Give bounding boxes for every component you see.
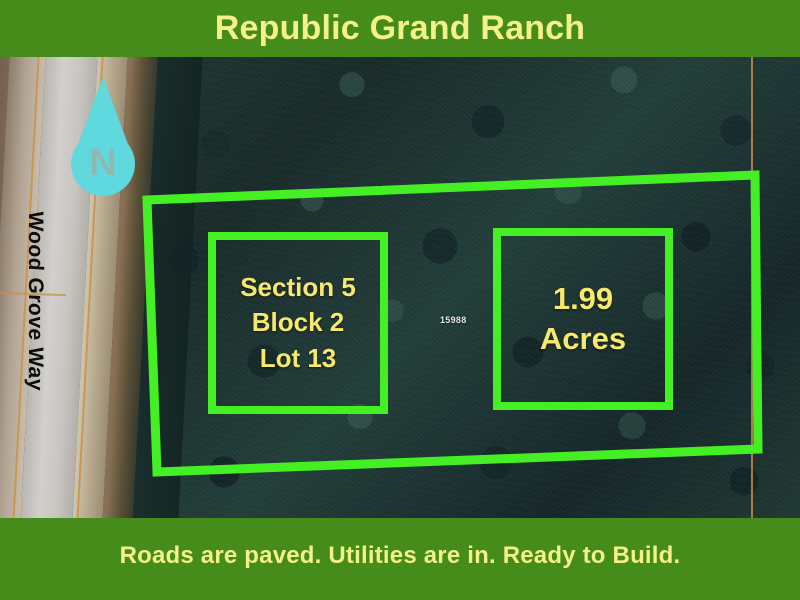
compass-rose: N — [63, 77, 143, 202]
lot-info-box: Section 5 Block 2 Lot 13 — [208, 232, 388, 414]
acreage-box: 1.99 Acres — [493, 228, 673, 410]
parcel-id-label: 15988 — [440, 315, 467, 325]
compass-dial: N — [71, 132, 135, 196]
compass-north-letter: N — [89, 144, 116, 182]
header-banner: Republic Grand Ranch — [0, 0, 800, 57]
lot-section-label: Section 5 — [240, 271, 356, 304]
page-title: Republic Grand Ranch — [215, 9, 586, 48]
acreage-unit: Acres — [540, 320, 626, 358]
acreage-value: 1.99 — [553, 280, 613, 318]
lot-number-label: Lot 13 — [260, 342, 337, 375]
footer-banner: Roads are paved. Utilities are in. Ready… — [0, 518, 800, 600]
listing-image: Republic Grand Ranch N — [0, 0, 800, 600]
street-name-label: Wood Grove Way — [23, 210, 47, 512]
lot-block-label: Block 2 — [252, 306, 345, 339]
satellite-map: N Wood Grove Way 15988 Section 5 Block 2… — [0, 57, 800, 518]
plat-boundary-line-east — [751, 57, 753, 518]
footer-tagline: Roads are paved. Utilities are in. Ready… — [120, 542, 681, 570]
